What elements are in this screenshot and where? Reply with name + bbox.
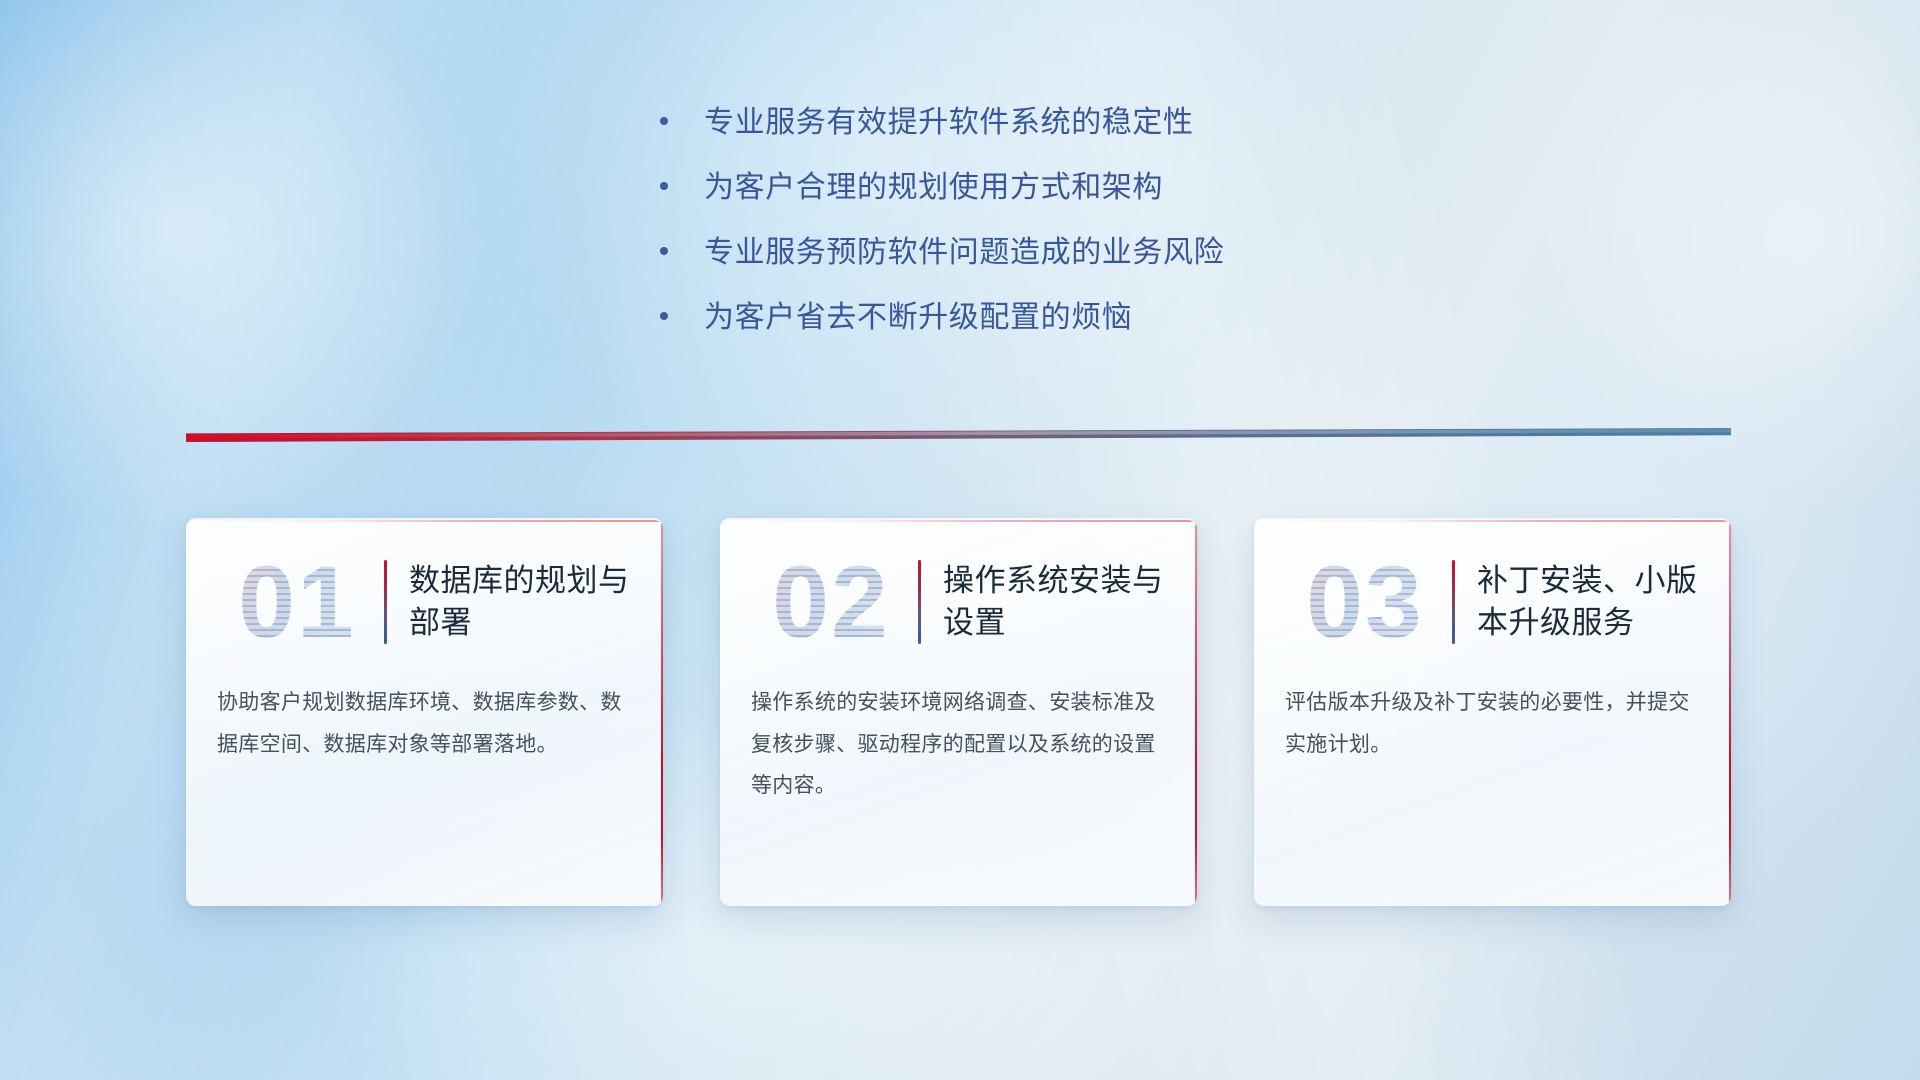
bullet-item-label: 为客户省去不断升级配置的烦恼 xyxy=(704,300,1132,336)
service-card-row: 01 数据库的规划与部署 协助客户规划数据库环境、数据库参数、数据库空间、数据库… xyxy=(186,518,1731,906)
card-description: 协助客户规划数据库环境、数据库参数、数据库空间、数据库对象等部署落地。 xyxy=(186,670,663,765)
card-number-watermark: 01 xyxy=(216,551,378,653)
bullet-item-label: 为客户合理的规划使用方式和架构 xyxy=(704,170,1163,206)
service-card-01[interactable]: 01 数据库的规划与部署 协助客户规划数据库环境、数据库参数、数据库空间、数据库… xyxy=(186,518,663,906)
bullet-item: 专业服务有效提升软件系统的稳定性 xyxy=(660,105,1480,141)
card-title-divider xyxy=(384,560,387,644)
bullet-item: 为客户省去不断升级配置的烦恼 xyxy=(660,300,1480,336)
bullet-item: 专业服务预防软件问题造成的业务风险 xyxy=(660,235,1480,271)
benefits-bullet-list: 专业服务有效提升软件系统的稳定性 为客户合理的规划使用方式和架构 专业服务预防软… xyxy=(660,105,1480,365)
bullet-dot-icon xyxy=(660,182,668,190)
card-title: 数据库的规划与部署 xyxy=(409,560,637,644)
card-header: 02 操作系统安装与设置 xyxy=(720,520,1197,670)
bullet-item: 为客户合理的规划使用方式和架构 xyxy=(660,170,1480,206)
card-title: 操作系统安装与设置 xyxy=(943,560,1171,644)
card-header: 03 补丁安装、小版本升级服务 xyxy=(1254,520,1731,670)
service-card-02[interactable]: 02 操作系统安装与设置 操作系统的安装环境网络调查、安装标准及复核步骤、驱动程… xyxy=(720,518,1197,906)
card-description: 操作系统的安装环境网络调查、安装标准及复核步骤、驱动程序的配置以及系统的设置等内… xyxy=(720,670,1197,807)
card-title-divider xyxy=(918,560,921,644)
bullet-item-label: 专业服务预防软件问题造成的业务风险 xyxy=(704,235,1224,271)
service-card-03[interactable]: 03 补丁安装、小版本升级服务 评估版本升级及补丁安装的必要性，并提交实施计划。 xyxy=(1254,518,1731,906)
card-title-divider xyxy=(1452,560,1455,644)
card-description: 评估版本升级及补丁安装的必要性，并提交实施计划。 xyxy=(1254,670,1731,765)
slide-root: 专业服务有效提升软件系统的稳定性 为客户合理的规划使用方式和架构 专业服务预防软… xyxy=(0,0,1920,1080)
bullet-item-label: 专业服务有效提升软件系统的稳定性 xyxy=(704,105,1194,141)
bullet-dot-icon xyxy=(660,312,668,320)
card-header: 01 数据库的规划与部署 xyxy=(186,520,663,670)
card-number-watermark: 02 xyxy=(750,551,912,653)
card-number-watermark: 03 xyxy=(1284,551,1446,653)
card-title: 补丁安装、小版本升级服务 xyxy=(1477,560,1705,644)
bullet-dot-icon xyxy=(660,117,668,125)
section-divider xyxy=(186,428,1731,442)
bullet-dot-icon xyxy=(660,247,668,255)
